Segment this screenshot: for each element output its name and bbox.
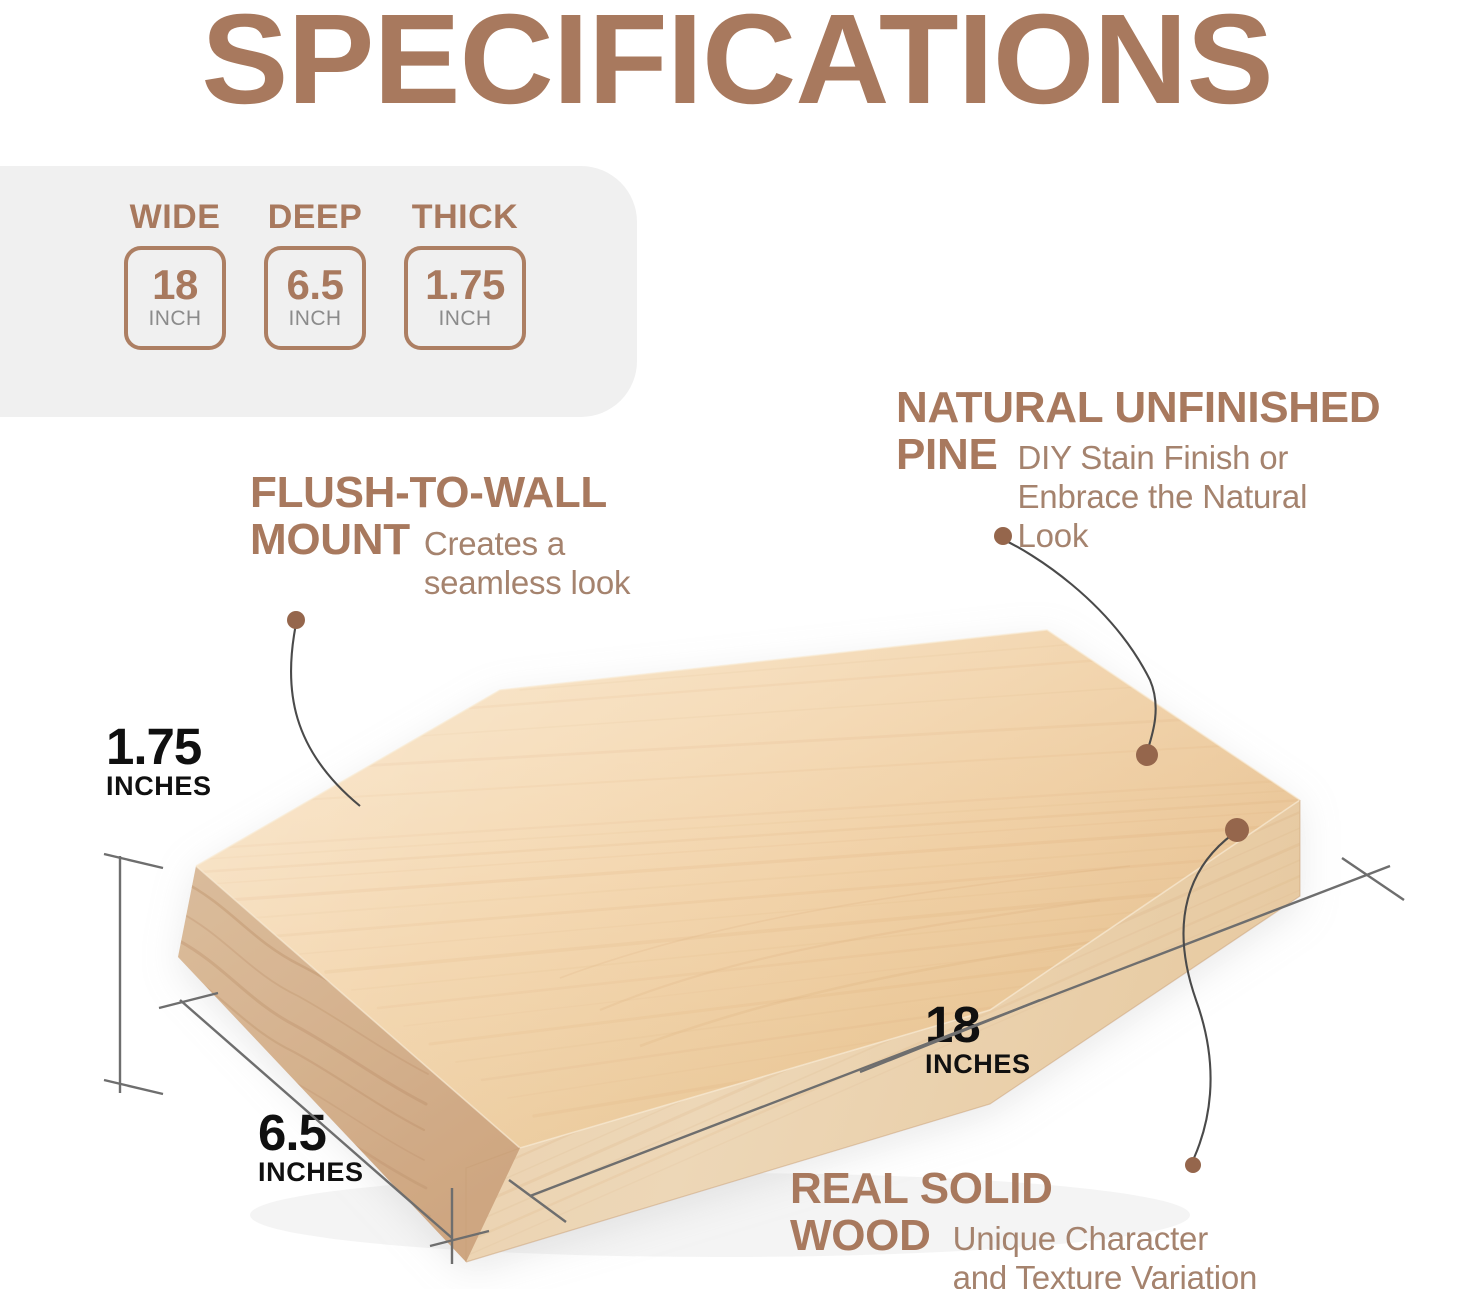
callout-real-solid-wood: REAL SOLID WOOD Unique Character and Tex… bbox=[790, 1166, 1430, 1289]
leader-natural-pine bbox=[994, 527, 1158, 766]
spec-chip-group: WIDE 18 INCH DEEP 6.5 INCH THICK 1.75 IN… bbox=[124, 198, 526, 350]
callout-pine-description: DIY Stain Finish or Enbrace the Natural … bbox=[1018, 439, 1308, 556]
callout-wood-description: Unique Character and Texture Variation bbox=[953, 1220, 1258, 1289]
callout-wood-title-line1: REAL SOLID bbox=[790, 1166, 1430, 1213]
board-top-face bbox=[182, 630, 1330, 1148]
dimension-depth-value: 6.5 bbox=[258, 1108, 364, 1158]
board-end-grain-face bbox=[172, 828, 520, 1262]
spec-chip-wide-value: 18 bbox=[152, 265, 198, 305]
callout-wood-desc-line1: Unique Character bbox=[953, 1220, 1258, 1259]
spec-chip-deep-heading: DEEP bbox=[268, 198, 363, 237]
spec-chip-deep-box: 6.5 INCH bbox=[264, 246, 366, 350]
callout-pine-desc-line3: Look bbox=[1018, 517, 1308, 556]
spec-chip-deep-value: 6.5 bbox=[287, 265, 344, 305]
callout-flush-desc-line1: Creates a bbox=[424, 525, 631, 564]
callout-flush-to-wall-mount: FLUSH-TO-WALL MOUNT Creates a seamless l… bbox=[250, 470, 810, 603]
dimension-thickness-value: 1.75 bbox=[106, 722, 212, 772]
spec-chip-thick-value: 1.75 bbox=[425, 265, 505, 305]
spec-chip-deep-unit: INCH bbox=[289, 307, 342, 331]
dimension-width-value: 18 bbox=[925, 1000, 1031, 1050]
spec-chip-thick-unit: INCH bbox=[439, 307, 492, 331]
callout-flush-description: Creates a seamless look bbox=[424, 525, 631, 603]
infographic-canvas: SPECIFICATIONS WIDE 18 INCH DEEP 6.5 INC… bbox=[0, 0, 1474, 1289]
callout-pine-desc-line1: DIY Stain Finish or bbox=[1018, 439, 1308, 478]
leader-real-solid-wood bbox=[1184, 818, 1249, 1173]
callout-pine-title-line2: PINE bbox=[896, 432, 998, 479]
spec-chip-wide: WIDE 18 INCH bbox=[124, 198, 226, 350]
spec-chip-thick-heading: THICK bbox=[412, 198, 518, 237]
callout-wood-desc-line2: and Texture Variation bbox=[953, 1259, 1258, 1289]
callout-flush-title-line2: MOUNT bbox=[250, 517, 410, 564]
dimension-label-depth: 6.5 INCHES bbox=[258, 1108, 364, 1188]
callout-pine-desc-line2: Enbrace the Natural bbox=[1018, 478, 1308, 517]
callout-wood-title-line2: WOOD bbox=[790, 1213, 931, 1260]
spec-chip-deep: DEEP 6.5 INCH bbox=[264, 198, 366, 350]
dimension-width-unit: INCHES bbox=[925, 1050, 1031, 1080]
callout-pine-title-line1: NATURAL UNFINISHED bbox=[896, 385, 1474, 432]
spec-chip-wide-unit: INCH bbox=[149, 307, 202, 331]
callout-flush-title-line1: FLUSH-TO-WALL bbox=[250, 470, 810, 517]
specifications-card: WIDE 18 INCH DEEP 6.5 INCH THICK 1.75 IN… bbox=[0, 166, 637, 417]
dimension-line-thickness bbox=[104, 854, 163, 1094]
spec-chip-thick-box: 1.75 INCH bbox=[404, 246, 526, 350]
spec-chip-wide-box: 18 INCH bbox=[124, 246, 226, 350]
dimension-label-width: 18 INCHES bbox=[925, 1000, 1031, 1080]
callout-flush-desc-line2: seamless look bbox=[424, 564, 631, 603]
spec-chip-thick: THICK 1.75 INCH bbox=[404, 198, 526, 350]
dimension-label-thickness: 1.75 INCHES bbox=[106, 722, 212, 802]
callout-natural-unfinished-pine: NATURAL UNFINISHED PINE DIY Stain Finish… bbox=[896, 385, 1474, 555]
page-title: SPECIFICATIONS bbox=[0, 0, 1474, 133]
board-edge-highlights bbox=[196, 630, 1300, 1148]
dimension-depth-unit: INCHES bbox=[258, 1158, 364, 1188]
spec-chip-wide-heading: WIDE bbox=[130, 198, 221, 237]
dimension-thickness-unit: INCHES bbox=[106, 772, 212, 802]
leader-flush-to-wall bbox=[287, 611, 360, 806]
